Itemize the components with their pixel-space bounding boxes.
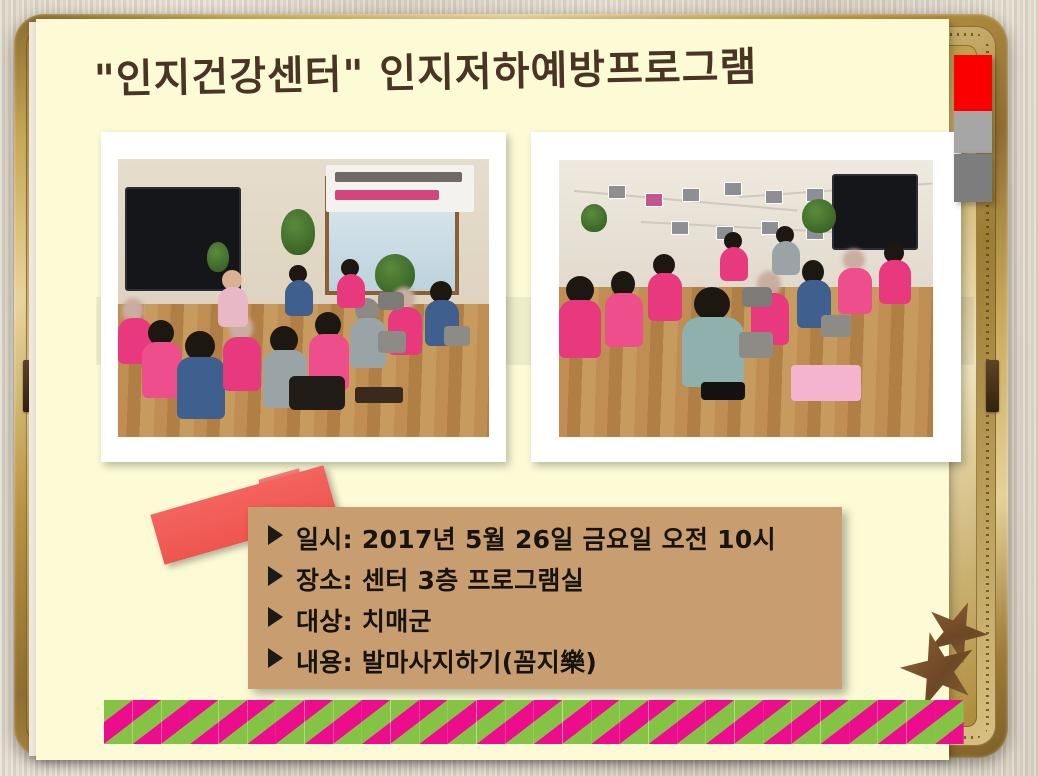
- info-text-target: 대상: 치매군: [296, 603, 432, 641]
- strip-cell: [505, 700, 534, 722]
- slide-page: "인지건강센터" 인지저하예방프로그램: [36, 19, 949, 760]
- photo-scene-1: [118, 159, 489, 437]
- strip-cell: [706, 722, 735, 744]
- strip-cell: [133, 722, 162, 744]
- strip-cell: [362, 700, 391, 722]
- strip-cell: [247, 700, 276, 722]
- strip-cell: [620, 722, 649, 744]
- strip-cell: [820, 700, 849, 722]
- dark-gray-block: [954, 154, 992, 202]
- strip-cell: [247, 722, 276, 744]
- strip-cell: [591, 722, 620, 744]
- strip-cell: [419, 722, 448, 744]
- strip-cell: [362, 722, 391, 744]
- strip-cell: [563, 722, 592, 744]
- light-gray-block: [954, 111, 992, 153]
- strip-cell: [391, 700, 420, 722]
- photo-image-1: [118, 159, 489, 437]
- strip-cell: [448, 722, 477, 744]
- triangle-bullet-icon: [268, 648, 283, 668]
- strip-cell: [305, 700, 334, 722]
- triangle-bullet-icon: [268, 525, 283, 545]
- strip-cell: [190, 700, 219, 722]
- strip-cell: [391, 722, 420, 744]
- program-info-box: 일시: 2017년 5월 26일 금요일 오전 10시 장소: 센터 3층 프로…: [248, 507, 842, 689]
- strip-cell: [677, 722, 706, 744]
- info-row-datetime: 일시: 2017년 5월 26일 금요일 오전 10시: [268, 521, 842, 559]
- strip-cell: [763, 700, 792, 722]
- strip-cell: [763, 722, 792, 744]
- strip-cell: [849, 700, 878, 722]
- strip-cell: [620, 700, 649, 722]
- strip-cell: [591, 700, 620, 722]
- strip-cell: [935, 700, 964, 722]
- strip-cell: [534, 722, 563, 744]
- strip-cell: [276, 700, 305, 722]
- strip-cell: [878, 700, 907, 722]
- info-row-content: 내용: 발마사지하기(꼼지樂): [268, 644, 842, 682]
- photo-card-1: [101, 132, 506, 462]
- strip-cell: [133, 700, 162, 722]
- strip-cell: [333, 722, 362, 744]
- strip-cell: [104, 700, 133, 722]
- strip-cell: [505, 722, 534, 744]
- strip-cell: [333, 700, 362, 722]
- strip-cell: [648, 700, 677, 722]
- presentation-slide: "인지건강센터" 인지저하예방프로그램: [0, 0, 1038, 776]
- strip-cell: [305, 722, 334, 744]
- photo-image-2: [559, 160, 933, 437]
- info-text-location: 장소: 센터 3층 프로그램실: [296, 562, 584, 600]
- page-title: "인지건강센터" 인지저하예방프로그램: [94, 42, 875, 104]
- frame-tab-right: [986, 360, 999, 412]
- strip-cell: [104, 722, 133, 744]
- strip-cell: [906, 700, 935, 722]
- strip-cell: [878, 722, 907, 744]
- strip-row-top: [104, 700, 964, 722]
- info-text-datetime: 일시: 2017년 5월 26일 금요일 오전 10시: [296, 521, 776, 559]
- strip-cell: [477, 722, 506, 744]
- triangle-border-strip: [104, 700, 964, 744]
- info-row-target: 대상: 치매군: [268, 603, 842, 641]
- strip-cell: [648, 722, 677, 744]
- strip-cell: [219, 700, 248, 722]
- strip-cell: [477, 700, 506, 722]
- strip-row-bottom: [104, 722, 964, 744]
- strip-cell: [906, 722, 935, 744]
- strip-cell: [820, 722, 849, 744]
- info-row-location: 장소: 센터 3층 프로그램실: [268, 562, 842, 600]
- strip-cell: [276, 722, 305, 744]
- strip-cell: [161, 722, 190, 744]
- strip-cell: [161, 700, 190, 722]
- strip-cell: [706, 700, 735, 722]
- photo-scene-2: [559, 160, 933, 437]
- triangle-bullet-icon: [268, 566, 283, 586]
- strip-cell: [849, 722, 878, 744]
- info-text-content: 내용: 발마사지하기(꼼지樂): [296, 644, 597, 682]
- strip-cell: [734, 700, 763, 722]
- strip-cell: [792, 700, 821, 722]
- strip-cell: [219, 722, 248, 744]
- strip-cell: [190, 722, 219, 744]
- strip-cell: [734, 722, 763, 744]
- strip-cell: [563, 700, 592, 722]
- triangle-bullet-icon: [268, 607, 283, 627]
- strip-cell: [677, 700, 706, 722]
- strip-cell: [419, 700, 448, 722]
- photo-card-2: [531, 132, 961, 462]
- strip-cell: [935, 722, 964, 744]
- red-block: [954, 55, 992, 111]
- strip-cell: [792, 722, 821, 744]
- strip-cell: [448, 700, 477, 722]
- strip-cell: [534, 700, 563, 722]
